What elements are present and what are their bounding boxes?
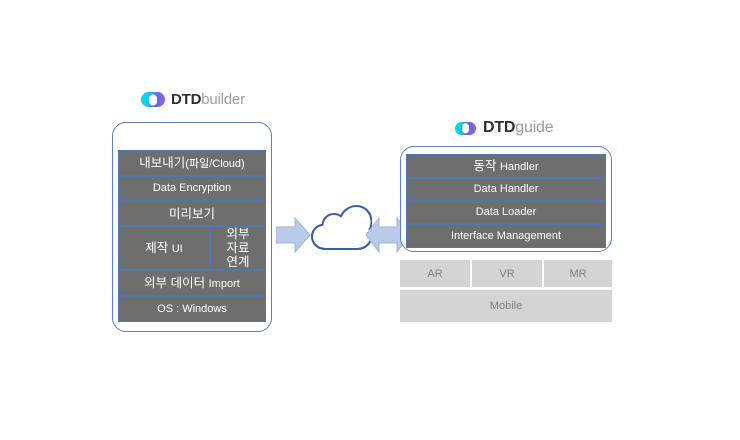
arrow-right-icon bbox=[276, 216, 310, 254]
platform-tile-mr[interactable]: MR bbox=[544, 260, 612, 287]
builder-block-authoring-ui-label: 제작 UI bbox=[145, 239, 182, 257]
dtd-pill-logo-icon bbox=[455, 122, 476, 135]
builder-block-external-data-import[interactable]: 외부 데이터 Import bbox=[118, 270, 266, 296]
guide-block-action-handler[interactable]: 동작 Handler bbox=[406, 154, 606, 178]
dtdbuilder-logo-strong: DTD bbox=[171, 91, 201, 108]
logo-notch-icon bbox=[149, 94, 158, 105]
builder-block-preview-label: 미리보기 bbox=[169, 207, 215, 221]
platform-tile-vr-label: VR bbox=[499, 268, 514, 280]
builder-block-os-label: OS : Windows bbox=[157, 303, 227, 315]
guide-block-data-handler-label: Data Handler bbox=[474, 183, 539, 195]
guide-block-interface-management-label: Interface Management bbox=[451, 230, 561, 242]
builder-block-external-data-link-label: 외부 자료 연계 bbox=[226, 227, 249, 269]
dtdguide-logo-light: guide bbox=[515, 119, 553, 136]
builder-block-data-encryption-label: Data Encryption bbox=[153, 182, 231, 194]
guide-block-action-handler-label: 동작 Handler bbox=[473, 157, 538, 175]
platform-tile-mobile[interactable]: Mobile bbox=[400, 290, 612, 322]
builder-block-preview[interactable]: 미리보기 bbox=[118, 201, 266, 226]
guide-block-interface-management[interactable]: Interface Management bbox=[406, 224, 606, 248]
builder-block-export[interactable]: 내보내기(파일/Cloud) bbox=[118, 150, 266, 176]
dtdbuilder-logo: DTDbuilder bbox=[141, 91, 245, 108]
platform-tile-ar[interactable]: AR bbox=[400, 260, 470, 287]
logo-notch-icon bbox=[462, 123, 470, 133]
guide-block-data-handler[interactable]: Data Handler bbox=[406, 178, 606, 201]
builder-block-os[interactable]: OS : Windows bbox=[118, 296, 266, 322]
dtdbuilder-logo-light: builder bbox=[201, 91, 245, 108]
guide-block-data-loader[interactable]: Data Loader bbox=[406, 201, 606, 224]
dtdguide-logo-strong: DTD bbox=[483, 119, 515, 136]
builder-block-data-encryption[interactable]: Data Encryption bbox=[118, 176, 266, 201]
guide-block-data-loader-label: Data Loader bbox=[476, 206, 537, 218]
diagram-canvas: DTDbuilder 내보내기(파일/Cloud) Data Encryptio… bbox=[0, 0, 740, 440]
dtdguide-logo-text: DTDguide bbox=[483, 119, 553, 137]
cloud-icon bbox=[310, 203, 372, 255]
builder-block-export-label: 내보내기(파일/Cloud) bbox=[139, 154, 244, 172]
platform-tile-mr-label: MR bbox=[569, 268, 586, 280]
platform-tile-vr[interactable]: VR bbox=[472, 260, 542, 287]
builder-block-authoring-ui[interactable]: 제작 UI bbox=[118, 226, 210, 270]
builder-block-external-data-import-label: 외부 데이터 Import bbox=[144, 274, 240, 292]
platform-tile-ar-label: AR bbox=[427, 268, 442, 280]
dtd-pill-logo-icon bbox=[141, 92, 165, 107]
platform-tile-mobile-label: Mobile bbox=[490, 300, 522, 312]
builder-block-external-data-link[interactable]: 외부 자료 연계 bbox=[210, 226, 266, 270]
dtdbuilder-logo-text: DTDbuilder bbox=[171, 91, 245, 108]
dtdguide-logo: DTDguide bbox=[455, 119, 553, 137]
